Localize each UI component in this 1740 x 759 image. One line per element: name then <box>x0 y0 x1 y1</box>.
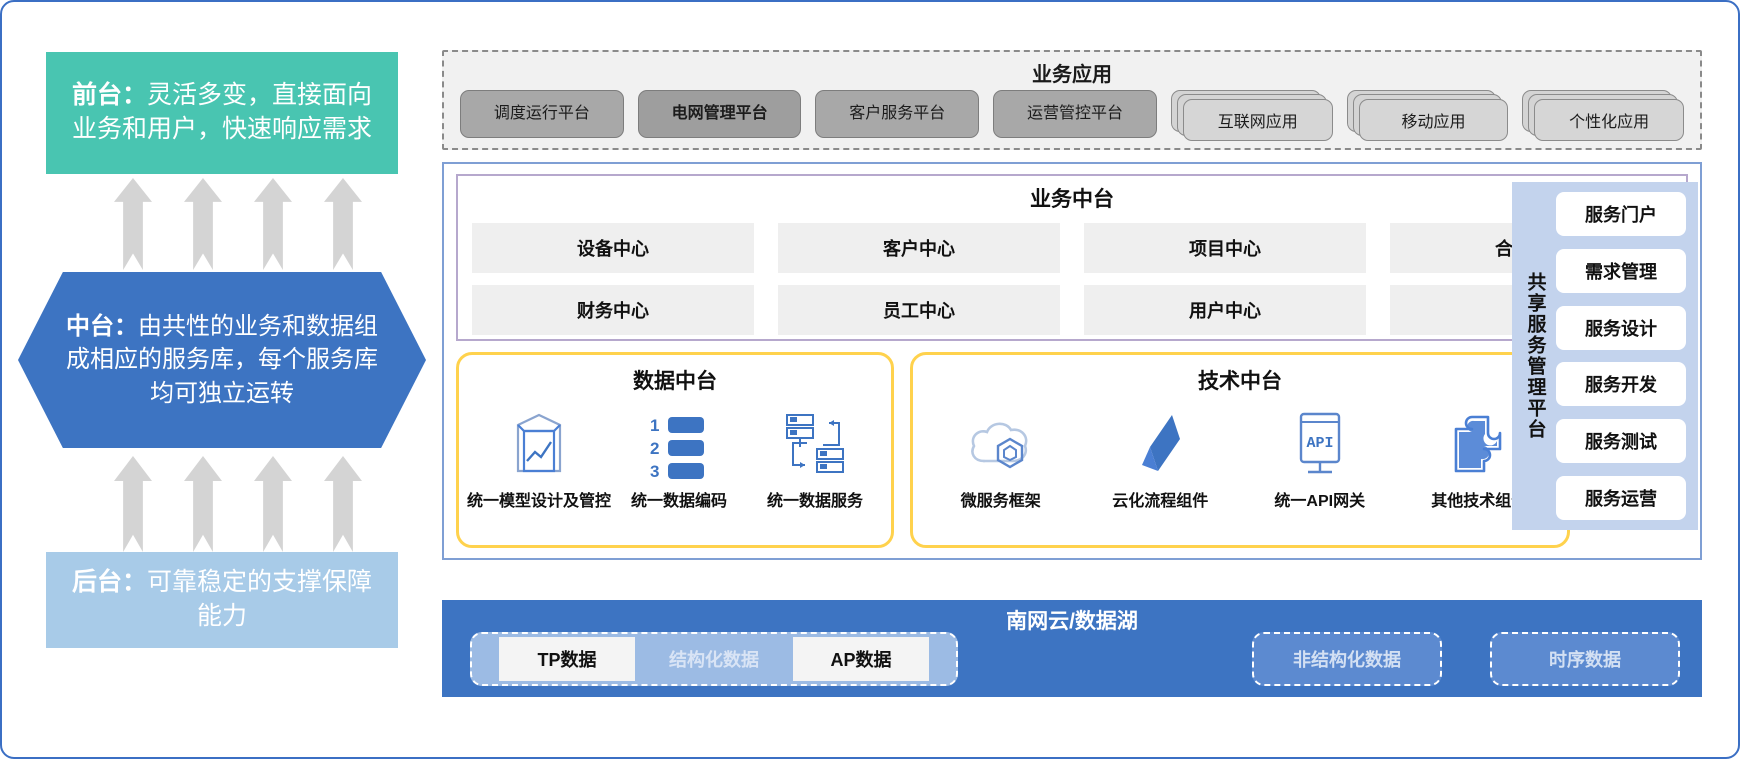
share-item-portal[interactable]: 服务门户 <box>1556 192 1686 236</box>
stack-layer-front[interactable]: 个性化应用 <box>1534 99 1684 141</box>
data-item-model[interactable]: 统一模型设计及管控 <box>467 407 611 511</box>
tech-item-label: 统一API网关 <box>1274 487 1365 511</box>
center-grid: 设备中心 客户中心 项目中心 合同中心 财务中心 员工中心 用户中心 …… <box>472 223 1672 335</box>
tech-middle-title: 技术中台 <box>913 355 1567 395</box>
share-item-requirement[interactable]: 需求管理 <box>1556 249 1686 293</box>
svg-text:3: 3 <box>650 462 659 479</box>
data-item-label: 统一模型设计及管控 <box>467 487 611 511</box>
data-item-label: 统一数据服务 <box>767 487 863 511</box>
share-item-label: 服务开发 <box>1585 371 1657 397</box>
center-cell-label: 设备中心 <box>577 235 649 261</box>
ap-data-chip[interactable]: AP数据 <box>793 637 929 681</box>
shared-service-platform: 共享服务管理平台 服务门户 需求管理 服务设计 服务开发 服务测试 服务运营 <box>1512 182 1698 530</box>
business-applications-row: 调度运行平台 电网管理平台 客户服务平台 运营管控平台 互联网应用 <box>460 90 1684 142</box>
tech-middle-icon-row: 微服务框架 云化流程组件 <box>913 407 1567 511</box>
center-cell-label: 项目中心 <box>1189 235 1261 261</box>
app-chip-label: 个性化应用 <box>1569 108 1649 132</box>
center-cell-label: 员工中心 <box>883 297 955 323</box>
app-chip-label: 运营管控平台 <box>1027 105 1123 123</box>
flow-arrow-icon <box>1128 407 1192 481</box>
timeseries-data-label: 时序数据 <box>1549 646 1621 672</box>
app-chip-label: 客户服务平台 <box>849 105 945 123</box>
svg-text:2: 2 <box>650 439 659 458</box>
up-arrow-icon <box>254 178 292 270</box>
front-stage-box: 前台：灵活多变，直接面向业务和用户，快速响应需求 <box>46 52 398 174</box>
share-item-label: 服务设计 <box>1585 315 1657 341</box>
share-item-label: 服务测试 <box>1585 428 1657 454</box>
center-cell-user[interactable]: 用户中心 <box>1084 285 1366 335</box>
tech-item-label: 云化流程组件 <box>1112 487 1208 511</box>
center-cell-project[interactable]: 项目中心 <box>1084 223 1366 273</box>
app-stack-mobile[interactable]: 移动应用 <box>1347 90 1509 142</box>
share-item-label: 服务运营 <box>1585 485 1657 511</box>
back-stage-box: 后台：可靠稳定的支撑保障能力 <box>46 552 398 648</box>
app-chip-label: 电网管理平台 <box>672 105 768 123</box>
middle-stage-keyword: 中台： <box>66 313 138 340</box>
tech-item-microservice[interactable]: 微服务框架 <box>926 407 1076 511</box>
business-middle-title: 业务中台 <box>458 176 1686 213</box>
front-stage-keyword: 前台： <box>72 81 147 109</box>
up-arrow-icon <box>114 456 152 552</box>
up-arrow-icon <box>184 178 222 270</box>
back-stage-keyword: 后台： <box>72 568 147 596</box>
center-cell-label: 财务中心 <box>577 297 649 323</box>
share-item-label: 需求管理 <box>1585 258 1657 284</box>
center-cell-finance[interactable]: 财务中心 <box>472 285 754 335</box>
cloud-data-lake-title: 南网云/数据湖 <box>442 605 1702 635</box>
tp-data-chip[interactable]: TP数据 <box>499 637 635 681</box>
app-stack-internet[interactable]: 互联网应用 <box>1171 90 1333 142</box>
business-middle-platform: 业务中台 设备中心 客户中心 项目中心 合同中心 财务中心 员工中心 用户中心 … <box>456 174 1688 341</box>
app-chip-label: 移动应用 <box>1401 108 1465 132</box>
app-chip-operations[interactable]: 运营管控平台 <box>993 90 1157 138</box>
up-arrow-icon <box>254 456 292 552</box>
tech-item-api-gateway[interactable]: API 统一API网关 <box>1245 407 1395 511</box>
center-cell-label: 用户中心 <box>1189 297 1261 323</box>
business-applications-title: 业务应用 <box>444 58 1700 87</box>
tech-middle-platform: 技术中台 微服务框架 <box>910 352 1570 548</box>
unstructured-data-chip[interactable]: 非结构化数据 <box>1252 632 1442 686</box>
up-arrow-icon <box>324 178 362 270</box>
share-item-development[interactable]: 服务开发 <box>1556 362 1686 406</box>
cloud-hexagon-icon <box>966 407 1036 481</box>
share-item-testing[interactable]: 服务测试 <box>1556 419 1686 463</box>
stack-layer-front[interactable]: 互联网应用 <box>1183 99 1333 141</box>
ap-data-label: AP数据 <box>830 646 891 672</box>
tp-data-label: TP数据 <box>537 646 596 672</box>
business-applications-panel: 业务应用 调度运行平台 电网管理平台 客户服务平台 运营管控平台 <box>442 50 1702 150</box>
share-item-operation[interactable]: 服务运营 <box>1556 476 1686 520</box>
data-middle-icon-row: 统一模型设计及管控 1 2 3 <box>459 407 891 511</box>
tech-item-flow[interactable]: 云化流程组件 <box>1085 407 1235 511</box>
center-cell-employee[interactable]: 员工中心 <box>778 285 1060 335</box>
app-stack-personalized[interactable]: 个性化应用 <box>1522 90 1684 142</box>
server-exchange-icon <box>783 407 847 481</box>
share-item-label: 服务门户 <box>1585 201 1657 227</box>
data-middle-platform: 数据中台 统一模型设计及管控 <box>456 352 894 548</box>
back-stage-text: 可靠稳定的支撑保障能力 <box>147 568 372 630</box>
shared-service-list: 服务门户 需求管理 服务设计 服务开发 服务测试 服务运营 <box>1556 182 1698 530</box>
up-arrow-icon <box>324 456 362 552</box>
lower-arrows-group <box>114 456 362 552</box>
data-item-service[interactable]: 统一数据服务 <box>747 407 883 511</box>
share-item-design[interactable]: 服务设计 <box>1556 306 1686 350</box>
stack-layer-front[interactable]: 移动应用 <box>1359 99 1509 141</box>
tech-item-label: 微服务框架 <box>961 487 1041 511</box>
platform-panels: 数据中台 统一模型设计及管控 <box>456 352 1570 548</box>
center-cell-equipment[interactable]: 设备中心 <box>472 223 754 273</box>
middle-stage-hexagon: 中台：由共性的业务和数据组成相应的服务库，每个服务库均可独立运转 <box>18 272 426 448</box>
svg-text:1: 1 <box>650 416 659 435</box>
data-middle-title: 数据中台 <box>459 355 891 395</box>
data-item-coding[interactable]: 1 2 3 统一数据编码 <box>611 407 747 511</box>
app-chip-customer-service[interactable]: 客户服务平台 <box>815 90 979 138</box>
cloud-data-lake-bar: 南网云/数据湖 TP数据 结构化数据 AP数据 非结构化数据 时序数据 <box>442 600 1702 697</box>
puzzle-piece-icon <box>1446 407 1512 481</box>
app-chip-label: 调度运行平台 <box>494 105 590 123</box>
app-chip-label: 互联网应用 <box>1218 108 1298 132</box>
numbered-list-icon: 1 2 3 <box>648 407 710 481</box>
svg-text:API: API <box>1306 435 1333 452</box>
timeseries-data-chip[interactable]: 时序数据 <box>1490 632 1680 686</box>
model-box-chart-icon <box>510 407 568 481</box>
center-cell-customer[interactable]: 客户中心 <box>778 223 1060 273</box>
up-arrow-icon <box>114 178 152 270</box>
api-monitor-icon: API <box>1289 407 1351 481</box>
up-arrow-icon <box>184 456 222 552</box>
center-cell-label: 客户中心 <box>883 235 955 261</box>
shared-service-vertical-title: 共享服务管理平台 <box>1512 182 1556 530</box>
diagram-canvas: 前台：灵活多变，直接面向业务和用户，快速响应需求 中台：由共性的业务和数据组成相… <box>0 0 1740 759</box>
app-chip-dispatch[interactable]: 调度运行平台 <box>460 90 624 138</box>
structured-data-label: 结构化数据 <box>669 646 759 672</box>
upward-arrows-group <box>114 178 362 270</box>
unstructured-data-label: 非结构化数据 <box>1293 646 1401 672</box>
structured-data-group: TP数据 结构化数据 AP数据 <box>470 632 958 686</box>
left-column: 前台：灵活多变，直接面向业务和用户，快速响应需求 中台：由共性的业务和数据组成相… <box>46 52 398 712</box>
data-item-label: 统一数据编码 <box>631 487 727 511</box>
app-chip-grid-management[interactable]: 电网管理平台 <box>638 90 802 138</box>
